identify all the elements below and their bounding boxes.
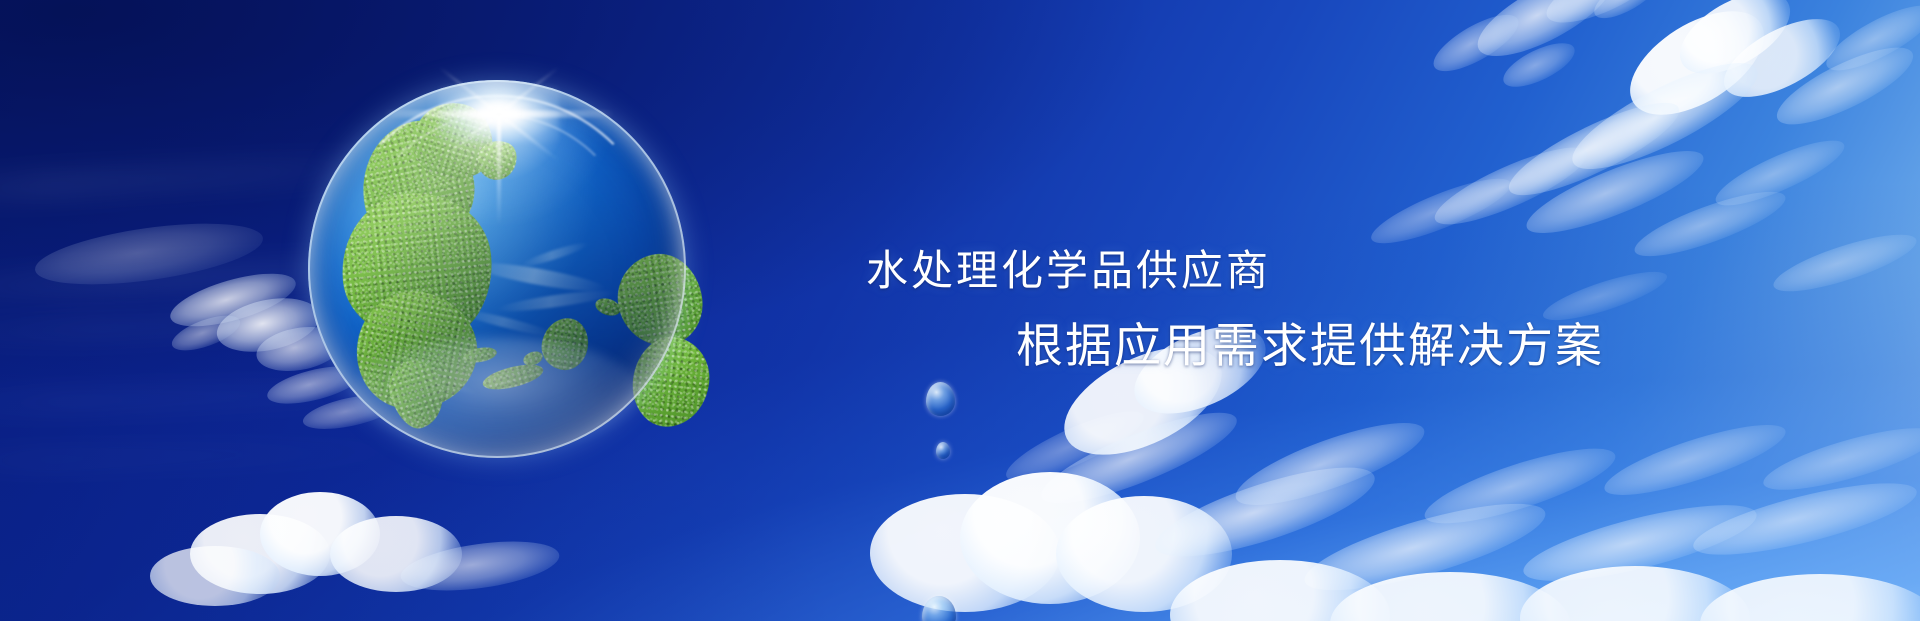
hero-banner: 水处理化学品供应商 根据应用需求提供解决方案 [0, 0, 1920, 621]
headline-line-1: 水处理化学品供应商 [866, 250, 1271, 292]
earth-glass-globe [308, 80, 686, 458]
sun-flare-vertical-ray [497, 107, 501, 225]
water-droplet-large [926, 382, 955, 416]
water-droplet-small [936, 442, 950, 459]
headline-line-2: 根据应用需求提供解决方案 [1016, 322, 1604, 369]
sky-vignette [0, 0, 1920, 621]
